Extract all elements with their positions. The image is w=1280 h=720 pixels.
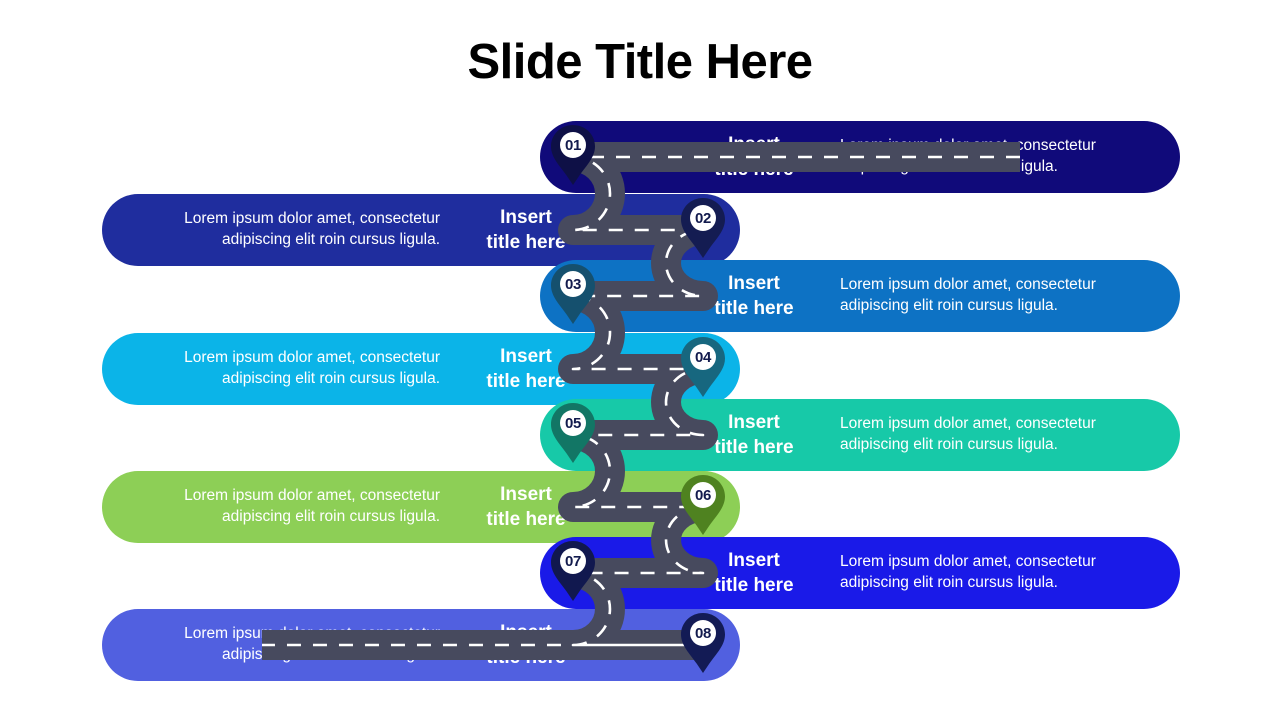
bar-title-05: Insert title here: [690, 410, 818, 460]
bar-body-03: Lorem ipsum dolor amet, consectetur adip…: [818, 275, 1152, 316]
content-bar-04[interactable]: Insert title hereLorem ipsum dolor amet,…: [102, 333, 740, 405]
pin-marker-06[interactable]: 06: [679, 474, 727, 536]
pin-marker-04[interactable]: 04: [679, 336, 727, 398]
bar-title-01: Insert title here: [690, 132, 818, 182]
bar-body-05: Lorem ipsum dolor amet, consectetur adip…: [818, 414, 1152, 455]
map-pin-icon: [549, 540, 597, 602]
pin-marker-07[interactable]: 07: [549, 540, 597, 602]
content-bar-06[interactable]: Insert title hereLorem ipsum dolor amet,…: [102, 471, 740, 543]
page-title: Slide Title Here: [0, 38, 1280, 87]
map-pin-icon: [549, 263, 597, 325]
bar-body-06: Lorem ipsum dolor amet, consectetur adip…: [130, 486, 462, 527]
bar-body-07: Lorem ipsum dolor amet, consectetur adip…: [818, 552, 1152, 593]
map-pin-icon: [679, 612, 727, 674]
map-pin-icon: [549, 402, 597, 464]
map-pin-icon: [679, 336, 727, 398]
bar-body-01: Lorem ipsum dolor amet, consectetur adip…: [818, 136, 1152, 177]
slide-canvas: Slide Title Here Insert title hereLorem …: [0, 0, 1280, 720]
bar-title-03: Insert title here: [690, 271, 818, 321]
content-bar-01[interactable]: Insert title hereLorem ipsum dolor amet,…: [540, 121, 1180, 193]
map-pin-icon: [679, 197, 727, 259]
map-pin-icon: [679, 474, 727, 536]
bar-title-06: Insert title here: [462, 482, 590, 532]
pin-marker-05[interactable]: 05: [549, 402, 597, 464]
bar-body-08: Lorem ipsum dolor amet, consectetur adip…: [130, 624, 462, 665]
content-bar-07[interactable]: Insert title hereLorem ipsum dolor amet,…: [540, 537, 1180, 609]
content-bar-05[interactable]: Insert title hereLorem ipsum dolor amet,…: [540, 399, 1180, 471]
bar-title-04: Insert title here: [462, 344, 590, 394]
content-bar-02[interactable]: Insert title hereLorem ipsum dolor amet,…: [102, 194, 740, 266]
pin-marker-02[interactable]: 02: [679, 197, 727, 259]
pin-marker-08[interactable]: 08: [679, 612, 727, 674]
bar-body-04: Lorem ipsum dolor amet, consectetur adip…: [130, 348, 462, 389]
bar-body-02: Lorem ipsum dolor amet, consectetur adip…: [130, 209, 462, 250]
bar-title-07: Insert title here: [690, 548, 818, 598]
pin-marker-01[interactable]: 01: [549, 124, 597, 186]
pin-marker-03[interactable]: 03: [549, 263, 597, 325]
content-bar-08[interactable]: Insert title hereLorem ipsum dolor amet,…: [102, 609, 740, 681]
bar-title-02: Insert title here: [462, 205, 590, 255]
content-bar-03[interactable]: Insert title hereLorem ipsum dolor amet,…: [540, 260, 1180, 332]
bar-title-08: Insert title here: [462, 620, 590, 670]
map-pin-icon: [549, 124, 597, 186]
